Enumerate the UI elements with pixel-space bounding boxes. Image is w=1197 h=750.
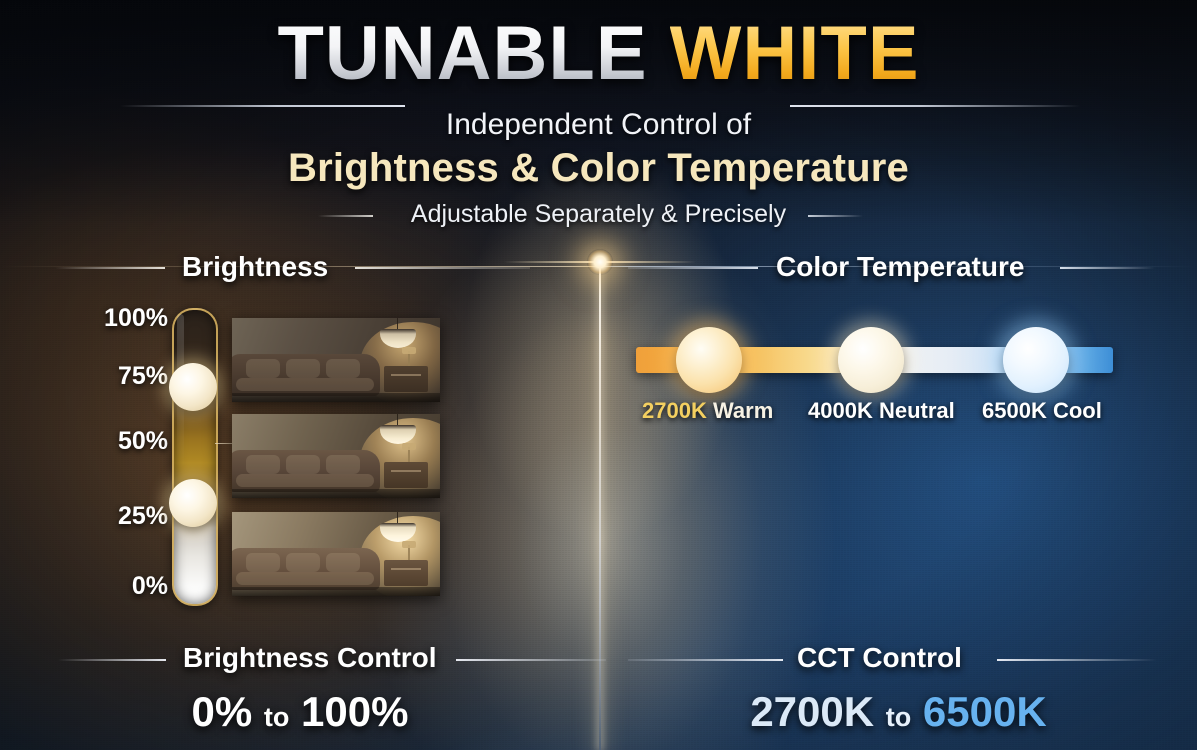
header-divider-right xyxy=(790,105,1080,107)
footer-right-header: CCT Control xyxy=(797,642,962,674)
header-divider-left xyxy=(120,105,405,107)
brightness-tick-75: 75% xyxy=(96,362,168,391)
footer-right-rule-1 xyxy=(628,659,783,661)
subtitle-line-3: Adjustable Separately & Precisely xyxy=(0,200,1197,229)
infographic-canvas: TUNABLE WHITE Independent Control of Bri… xyxy=(0,0,1197,750)
cct-marker-2700k[interactable] xyxy=(676,327,742,393)
brightness-slider-thumb-75[interactable] xyxy=(169,363,217,411)
brightness-tick-25: 25% xyxy=(96,502,168,531)
cct-header-rule-right xyxy=(1060,267,1155,269)
brightness-tick-50: 50% xyxy=(96,427,168,456)
room-preview-mid xyxy=(232,414,440,498)
title-word-tunable: TUNABLE xyxy=(277,11,647,96)
cct-label-4000k: 4000K Neutral xyxy=(808,398,955,424)
center-light-beam xyxy=(599,262,601,750)
cct-marker-6500k[interactable] xyxy=(1003,327,1069,393)
brightness-tick-100: 100% xyxy=(96,304,168,333)
brightness-header-rule-right xyxy=(355,267,530,269)
footer-left-range: 0% to 100% xyxy=(0,688,600,736)
footer-right-range-to: 6500K xyxy=(923,688,1047,735)
title-word-white: WHITE xyxy=(670,11,920,96)
footer-right-range-word: to xyxy=(886,702,911,732)
footer-right-range-from: 2700K xyxy=(750,688,874,735)
brightness-slider-track[interactable] xyxy=(172,308,218,606)
brightness-slider-thumb-25[interactable] xyxy=(169,479,217,527)
footer-left-range-from: 0% xyxy=(192,688,253,735)
brightness-scale: 100% 75% 50% 25% 0% xyxy=(96,300,168,610)
cct-label-6500k: 6500K Cool xyxy=(982,398,1102,424)
brightness-section-header: Brightness xyxy=(182,251,328,283)
cct-marker-4000k[interactable] xyxy=(838,327,904,393)
footer-left-range-to: 100% xyxy=(301,688,408,735)
cct-section-header: Color Temperature xyxy=(776,251,1024,283)
cct-label-2700k-kelvin: 2700K xyxy=(642,398,707,423)
brightness-header-rule-left xyxy=(55,267,165,269)
footer-right-range: 2700K to 6500K xyxy=(600,688,1197,736)
cct-header-rule-left xyxy=(628,267,758,269)
subtitle-line-1: Independent Control of xyxy=(0,108,1197,142)
footer-left-header: Brightness Control xyxy=(183,642,437,674)
subtitle-line-2: Brightness & Color Temperature xyxy=(0,146,1197,191)
subtitle-dash-left xyxy=(318,215,373,217)
room-preview-dim xyxy=(232,318,440,402)
subtitle-dash-right xyxy=(808,215,863,217)
brightness-tick-0: 0% xyxy=(96,572,168,601)
footer-left-range-word: to xyxy=(264,702,289,732)
cct-label-2700k-name: Warm xyxy=(713,398,773,423)
footer-left-rule-2 xyxy=(456,659,606,661)
cct-label-2700k: 2700K Warm xyxy=(642,398,773,424)
footer-left-rule-1 xyxy=(58,659,166,661)
page-title: TUNABLE WHITE xyxy=(0,16,1197,92)
room-preview-bright xyxy=(232,512,440,596)
footer-right-rule-2 xyxy=(997,659,1157,661)
